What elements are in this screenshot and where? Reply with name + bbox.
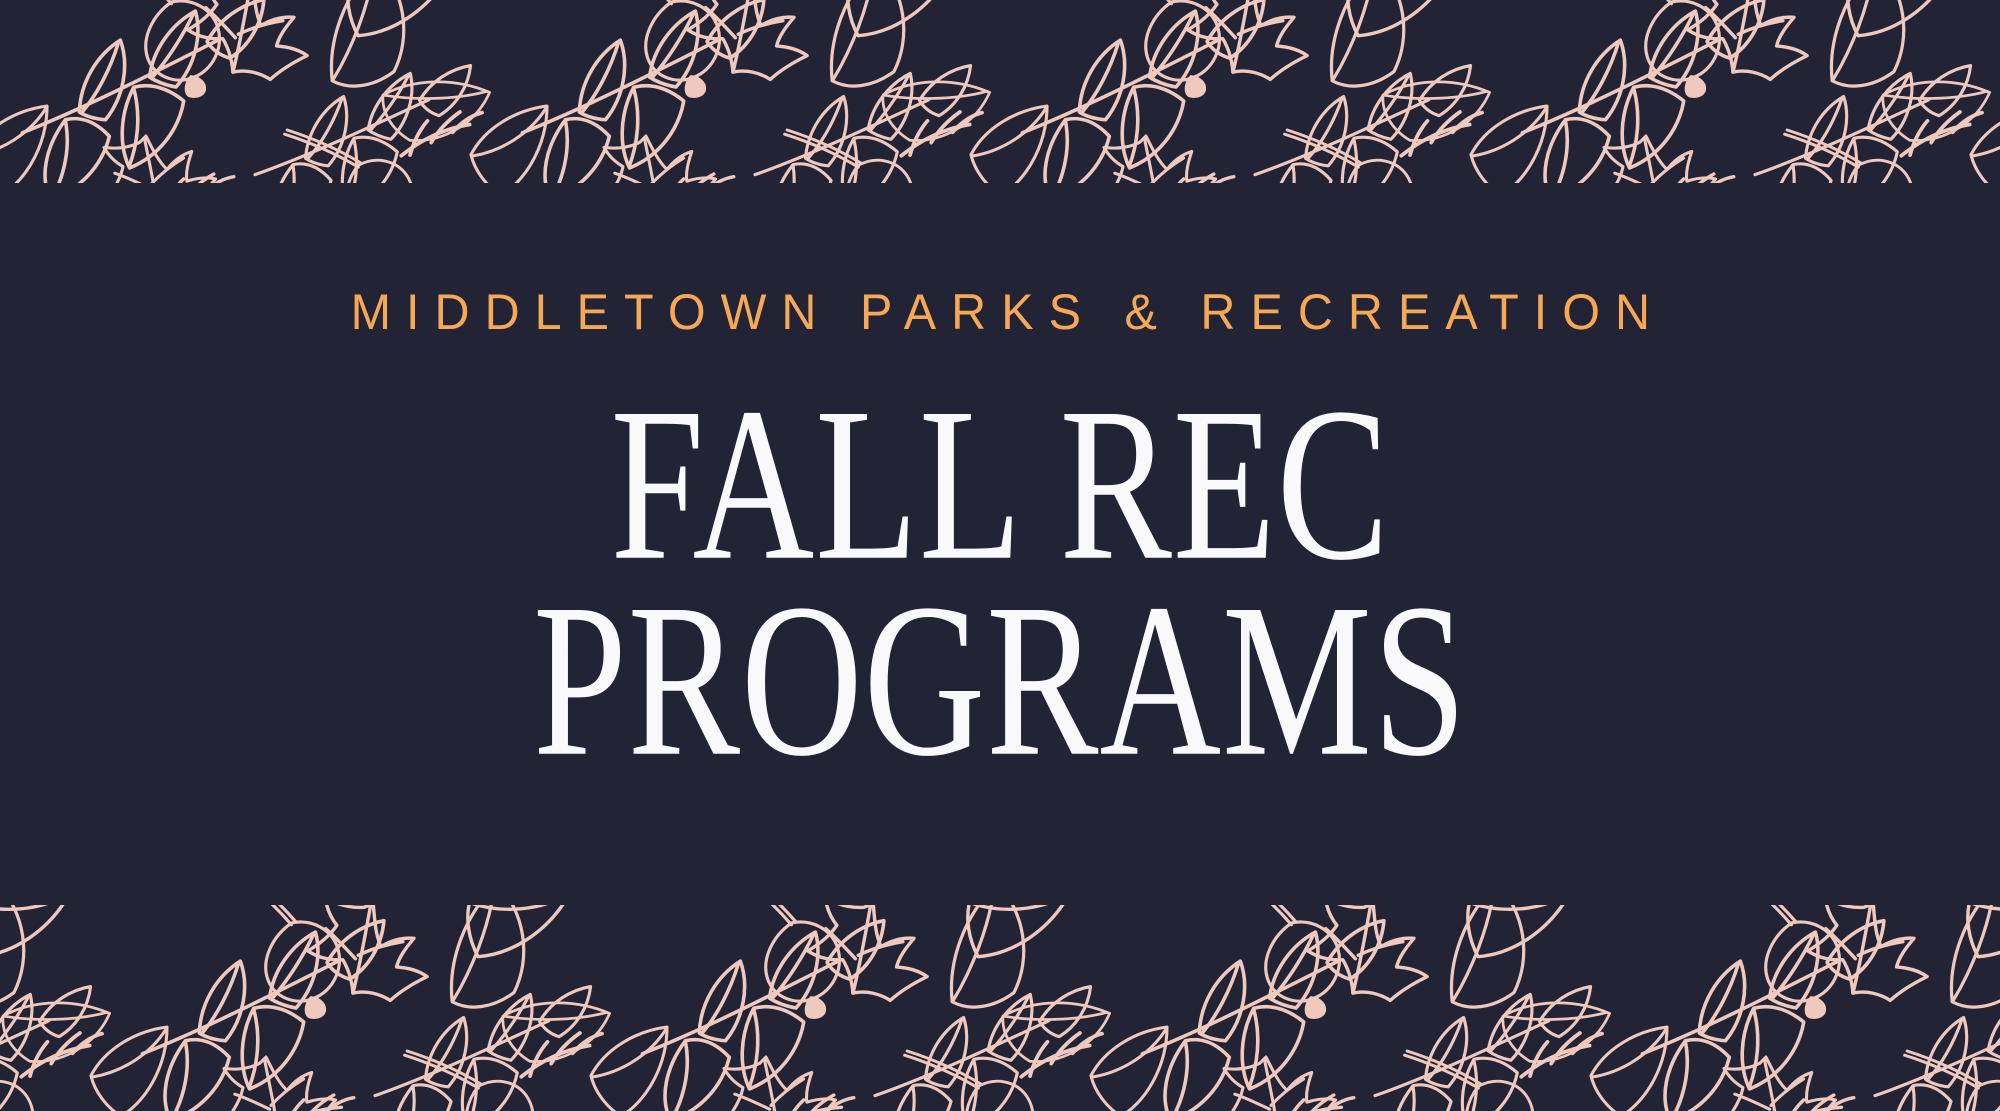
poster-canvas: MIDDLETOWN PARKS & RECREATION FALL REC P… [0,0,2000,1111]
top-leaf-pattern-band [0,0,2000,183]
poster-content: MIDDLETOWN PARKS & RECREATION FALL REC P… [0,183,2000,905]
organization-eyebrow: MIDDLETOWN PARKS & RECREATION [335,287,1665,337]
page-title-line-1: FALL REC [533,384,1467,586]
page-title-line-2: PROGRAMS [533,580,1467,782]
leaf-pattern-tiles [0,0,2000,183]
page-title: FALL REC PROGRAMS [457,395,1543,772]
bottom-leaf-pattern-band [0,905,2000,1111]
leaf-pattern-tiles [0,905,2000,1111]
